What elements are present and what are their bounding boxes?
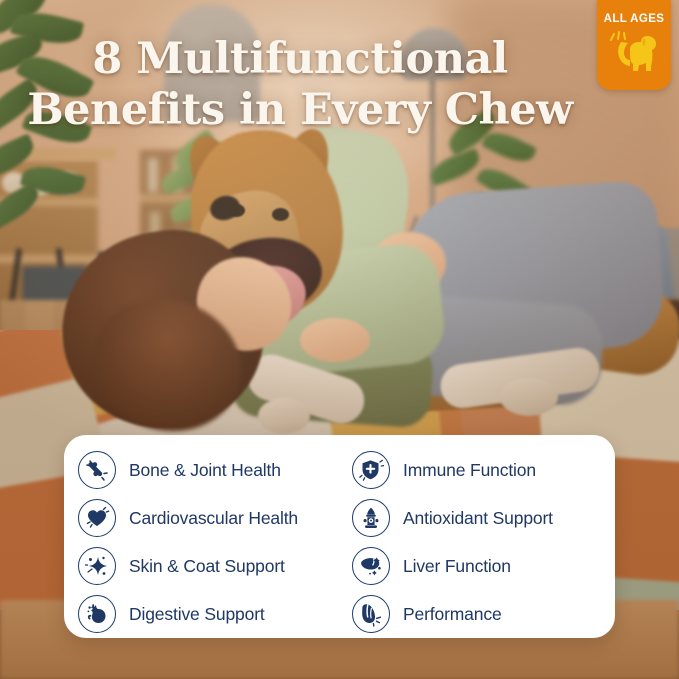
benefit-item: Bone & Joint Health: [64, 446, 338, 494]
headline-line-1: 8 Multifunctional: [92, 34, 507, 84]
benefits-card: Bone & Joint Health: [64, 435, 615, 638]
stomach-icon: [78, 595, 116, 633]
sitting-dog-icon: [608, 29, 660, 82]
headline-line-2: Benefits in Every Chew: [6, 89, 594, 132]
benefit-item: Digestive Support: [64, 590, 338, 638]
benefit-item: Performance: [338, 590, 615, 638]
page-title: 8 Multifunctional Benefits in Every Chew: [0, 38, 600, 132]
benefits-column-right: Immune Function: [338, 446, 615, 638]
fire-hydrant-icon: [352, 499, 390, 537]
sparkle-shine-icon: [78, 547, 116, 585]
all-ages-badge: ALL AGES: [597, 0, 671, 90]
bone-sparkle-icon: [78, 451, 116, 489]
benefit-label: Immune Function: [403, 460, 536, 481]
benefit-item: Skin & Coat Support: [64, 542, 338, 590]
benefit-label: Cardiovascular Health: [129, 508, 298, 529]
dog-eye-left: [228, 204, 245, 217]
benefit-label: Skin & Coat Support: [129, 556, 285, 577]
badge-label: ALL AGES: [604, 13, 665, 25]
benefit-item: Immune Function: [338, 446, 615, 494]
benefit-item: Cardiovascular Health: [64, 494, 338, 542]
dog-eye-right: [272, 208, 289, 221]
benefit-item: Antioxidant Support: [338, 494, 615, 542]
benefit-label: Bone & Joint Health: [129, 460, 281, 481]
benefit-label: Liver Function: [403, 556, 511, 577]
liver-sparkle-icon: [352, 547, 390, 585]
shield-plus-icon: [352, 451, 390, 489]
flexed-bicep-icon: [352, 595, 390, 633]
benefit-label: Digestive Support: [129, 604, 265, 625]
dog-paw-pad-left: [258, 398, 310, 434]
benefits-column-left: Bone & Joint Health: [64, 446, 338, 638]
benefit-label: Performance: [403, 604, 502, 625]
benefit-label: Antioxidant Support: [403, 508, 553, 529]
heart-pulse-icon: [78, 499, 116, 537]
person-hand: [300, 318, 370, 362]
product-infographic: 8 Multifunctional Benefits in Every Chew…: [0, 0, 679, 679]
benefit-item: Liver Function: [338, 542, 615, 590]
dog-paw-pad-right: [500, 378, 558, 416]
